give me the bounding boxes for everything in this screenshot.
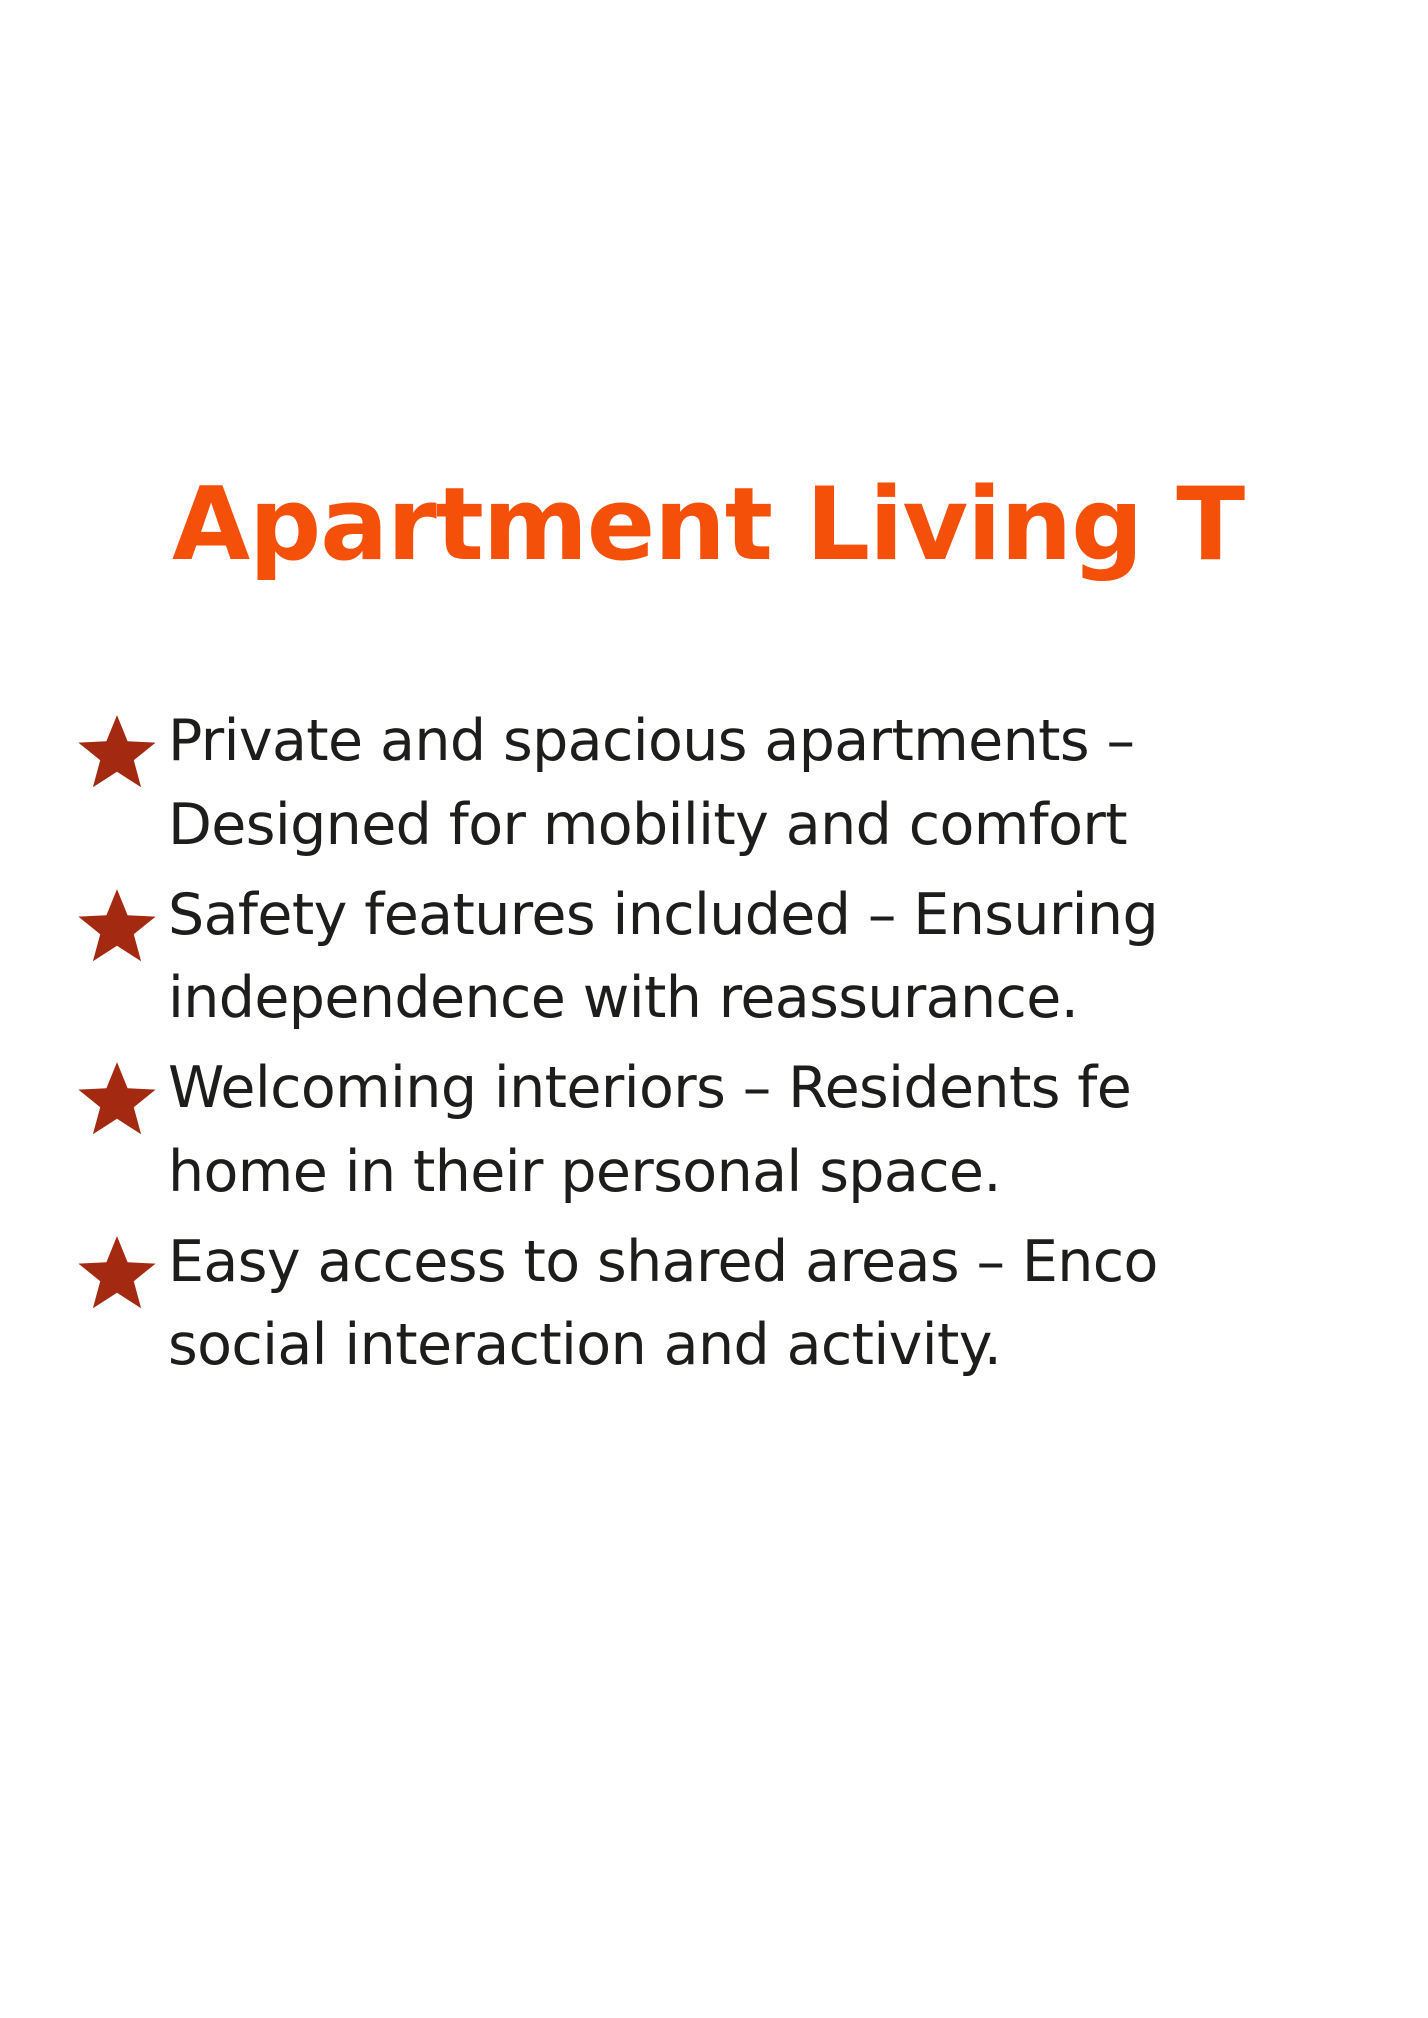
list-item-line-2: social interaction and activity. — [168, 1304, 1428, 1388]
list-item: Welcoming interiors – Residents fe home … — [72, 1047, 1428, 1215]
list-item: Private and spacious apartments – Design… — [72, 700, 1428, 868]
list-item-text: Safety features included – Ensuring inde… — [168, 874, 1428, 1042]
list-item-line-2: Designed for mobility and comfort — [168, 784, 1428, 868]
list-item-line-1: Welcoming interiors – Residents fe — [168, 1055, 1131, 1121]
page-title: Apartment Living T — [172, 466, 1244, 583]
star-icon — [78, 1233, 156, 1311]
list-item-line-2: home in their personal space. — [168, 1131, 1428, 1215]
list-item-line-1: Safety features included – Ensuring — [168, 882, 1158, 948]
list-item-text: Private and spacious apartments – Design… — [168, 700, 1428, 868]
star-icon — [78, 1059, 156, 1137]
list-item-line-1: Private and spacious apartments – — [168, 708, 1134, 774]
list-item: Easy access to shared areas – Enco socia… — [72, 1221, 1428, 1389]
slide-canvas: Apartment Living T Private and spacious … — [0, 0, 1428, 2018]
list-item-text: Welcoming interiors – Residents fe home … — [168, 1047, 1428, 1215]
star-icon — [78, 886, 156, 964]
star-icon — [78, 712, 156, 790]
bullet-list: Private and spacious apartments – Design… — [72, 700, 1428, 1394]
list-item: Safety features included – Ensuring inde… — [72, 874, 1428, 1042]
list-item-text: Easy access to shared areas – Enco socia… — [168, 1221, 1428, 1389]
list-item-line-2: independence with reassurance. — [168, 957, 1428, 1041]
list-item-line-1: Easy access to shared areas – Enco — [168, 1229, 1158, 1295]
